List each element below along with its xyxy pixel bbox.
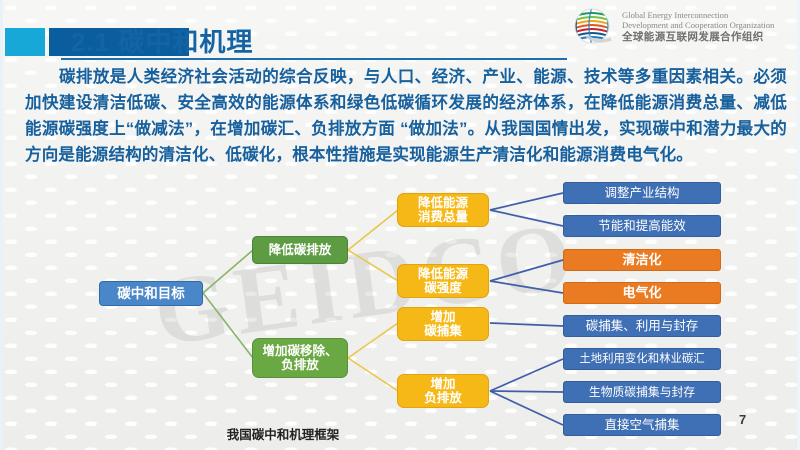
node-level1-increase-removal[interactable]: 增加碳移除、负排放: [252, 338, 348, 378]
node-label-line-1: 降低能源: [418, 196, 468, 210]
node-label-line-2: 碳捕集: [424, 324, 462, 338]
node-label-line-1: 降低能源: [418, 267, 468, 281]
node-label-line-2: 负排放: [424, 391, 462, 405]
page-title: 2.1 碳中和机理: [71, 22, 253, 59]
connectors-root-to-level1: [203, 250, 253, 358]
node-level3-direct-air-capture[interactable]: 直接空气捕集: [563, 414, 721, 436]
logo-english-line-2: Development and Cooperation Organization: [622, 20, 774, 30]
logo-english-line-1: Global Energy Interconnection: [622, 10, 774, 20]
connectors-level1-to-level2: [348, 210, 398, 391]
node-level3-ccus[interactable]: 碳捕集、利用与封存: [563, 315, 721, 337]
node-level2-reduce-energy-consumption[interactable]: 降低能源 消费总量: [397, 193, 489, 227]
carbon-neutrality-framework-diagram: 碳中和目标 降低碳排放 增加碳移除、负排放 降低能源 消费总量 降低能源 碳强度…: [3, 178, 800, 426]
node-root-carbon-neutrality-goal[interactable]: 碳中和目标: [99, 281, 203, 306]
node-label-line-1: 增加: [430, 310, 455, 324]
node-level3-cleanization[interactable]: 清洁化: [563, 249, 721, 271]
node-label-line-2: 消费总量: [418, 210, 468, 224]
node-level3-lulucf[interactable]: 土地利用变化和林业碳汇: [563, 348, 721, 370]
slide-canvas: 2.1 碳中和机理 Global Energy: [0, 0, 800, 450]
node-level3-adjust-industrial-structure[interactable]: 调整产业结构: [563, 182, 721, 204]
diagram-caption: 我国碳中和机理框架: [3, 424, 563, 443]
node-label-line-2: 碳强度: [424, 281, 462, 295]
node-level2-increase-negative-emissions[interactable]: 增加 负排放: [397, 374, 489, 408]
organization-logo: Global Energy Interconnection Developmen…: [571, 5, 774, 49]
node-level3-beccs[interactable]: 生物质碳捕集与封存: [563, 381, 721, 403]
node-label-line-1: 增加: [430, 377, 455, 391]
connectors-level2-to-level3: [490, 193, 563, 425]
node-level1-reduce-emissions[interactable]: 降低碳排放: [252, 236, 348, 264]
header-underline: [61, 58, 567, 60]
header-accent-square-light: [5, 28, 45, 56]
globe-logo-icon: [571, 5, 615, 49]
node-level3-electrification[interactable]: 电气化: [563, 282, 721, 304]
body-paragraph: 碳排放是人类经济社会活动的综合反映，与人口、经济、产业、能源、技术等多重因素相关…: [25, 64, 787, 168]
page-number: 7: [739, 412, 746, 427]
node-level2-reduce-carbon-intensity[interactable]: 降低能源 碳强度: [397, 264, 489, 298]
node-level3-energy-saving-efficiency[interactable]: 节能和提高能效: [563, 215, 721, 237]
logo-chinese-name: 全球能源互联网发展合作组织: [622, 31, 774, 43]
node-level2-increase-carbon-capture[interactable]: 增加 碳捕集: [397, 307, 489, 341]
